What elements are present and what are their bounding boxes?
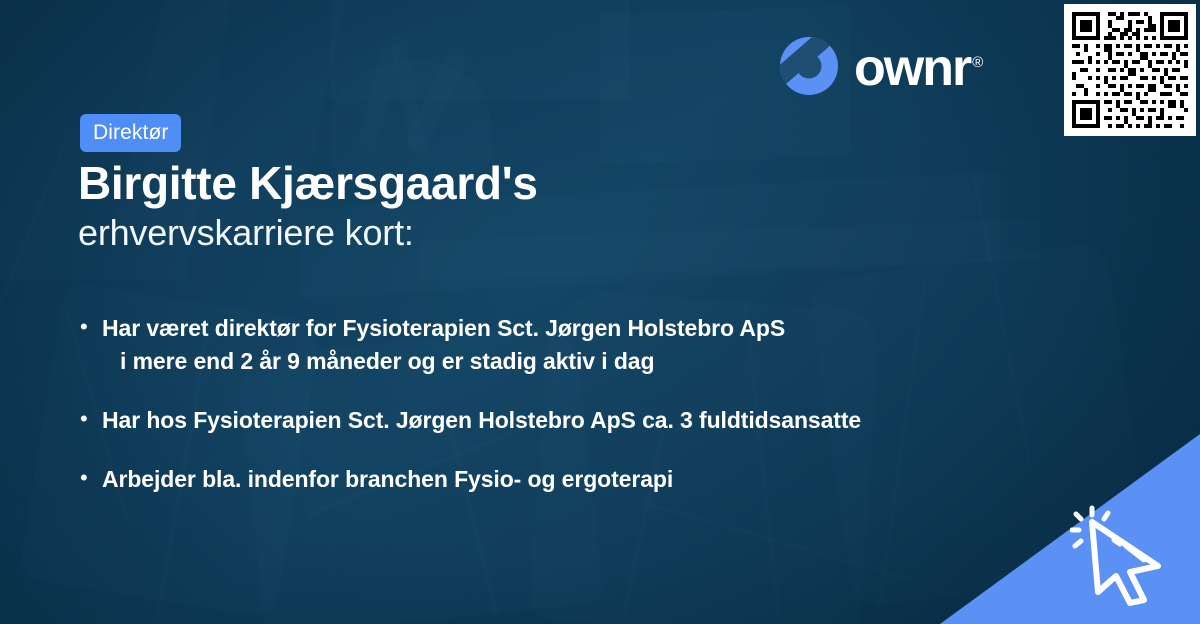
brand-wordmark: ownr® [854, 42, 981, 94]
career-facts-list: • Har været direktør for Fysioterapien S… [80, 312, 1020, 522]
list-item-line: Har været direktør for Fysioterapien Sct… [102, 315, 785, 341]
business-career-card: Direktør Birgitte Kjærsgaard's erhvervsk… [0, 0, 1200, 624]
brand-logo[interactable]: ownr® [778, 33, 981, 99]
registered-trademark-icon: ® [972, 54, 981, 71]
bullet-dot-icon: • [80, 312, 102, 342]
list-item-line: Har hos Fysioterapien Sct. Jørgen Holste… [102, 407, 861, 433]
page-title: Birgitte Kjærsgaard's [78, 158, 538, 209]
list-item-line: Arbejder bla. indenfor branchen Fysio- o… [102, 466, 673, 492]
page-subtitle: erhvervskarriere kort: [78, 212, 414, 253]
brand-wordmark-text: ownr [854, 39, 970, 97]
list-item-line: i mere end 2 år 9 måneder og er stadig a… [102, 348, 654, 374]
qr-code-icon[interactable] [1064, 4, 1196, 136]
list-item: • Har været direktør for Fysioterapien S… [80, 312, 1020, 378]
list-item: • Har hos Fysioterapien Sct. Jørgen Hols… [80, 404, 1020, 437]
bullet-dot-icon: • [80, 404, 102, 434]
mouse-cursor-click-icon [1070, 504, 1182, 606]
bullet-dot-icon: • [80, 463, 102, 493]
role-badge-label: Direktør [93, 121, 168, 144]
role-badge: Direktør [80, 114, 181, 152]
list-item: • Arbejder bla. indenfor branchen Fysio-… [80, 463, 1020, 496]
ownr-circle-swirl-icon [778, 35, 840, 97]
